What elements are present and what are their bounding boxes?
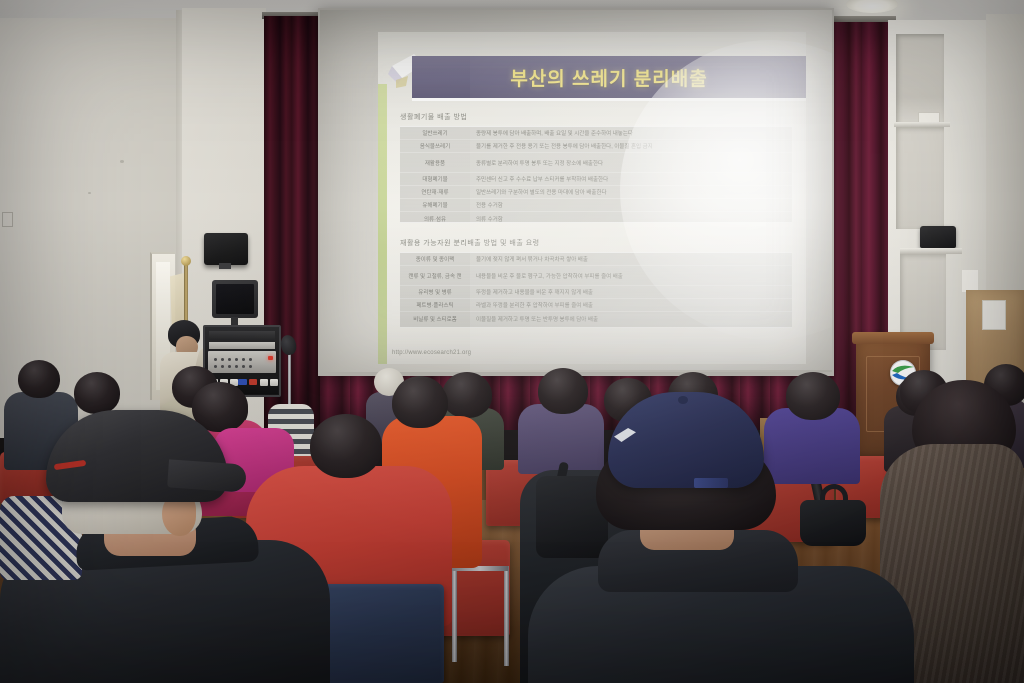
microphone-stand[interactable] bbox=[288, 350, 291, 412]
audience-member-head bbox=[18, 360, 60, 398]
table-row: 유해폐기물 전용 수거함 bbox=[400, 199, 792, 212]
mixer-power-led-icon bbox=[268, 356, 273, 360]
table-cell-label: 캔류 및 고철류, 금속 캔 bbox=[400, 272, 470, 280]
cap-brim bbox=[167, 459, 247, 492]
table-row: 일반쓰레기 종량제 봉투에 담아 배출하며, 배출 요일 및 시간을 준수하여 … bbox=[400, 127, 792, 140]
handbag-on-seat-back bbox=[800, 500, 866, 546]
audience-member-head bbox=[786, 372, 840, 420]
table-row: 의류·섬유 의류 수거함 bbox=[400, 212, 792, 225]
table-cell-body: 이물질을 제거하고 투명 또는 반투명 봉투에 담아 배출 bbox=[470, 315, 792, 323]
rack-unit-player[interactable] bbox=[209, 342, 275, 349]
speaker-bracket bbox=[219, 263, 231, 269]
rack-button[interactable] bbox=[270, 379, 278, 386]
table-cell-body: 일반쓰레기와 구분하여 별도의 전용 마대에 담아 배출한다 bbox=[470, 188, 792, 196]
wall-speaker-left-icon bbox=[204, 233, 248, 265]
rack-unit-top[interactable] bbox=[209, 331, 275, 340]
table-cell-label: 비닐류 및 스티로폼 bbox=[400, 315, 470, 323]
slide-table-one: 일반쓰레기 종량제 봉투에 담아 배출하며, 배출 요일 및 시간을 준수하여 … bbox=[400, 126, 792, 223]
light-switch-plate[interactable] bbox=[2, 212, 13, 227]
projected-slide: 부산의 쓰레기 분리배출 생활폐기물 배출 방법 일반쓰레기 종량제 봉투에 담… bbox=[378, 32, 806, 364]
table-cell-body: 내용물을 비운 후 물로 헹구고, 가능한 압착하여 부피를 줄여 배출 bbox=[470, 272, 792, 280]
wall-niche-middle bbox=[896, 127, 944, 229]
lecture-hall-photo: 부산의 쓰레기 분리배출 생활폐기물 배출 방법 일반쓰레기 종량제 봉투에 담… bbox=[0, 0, 1024, 683]
table-row: 음식물쓰레기 물기를 제거한 후 전용 용기 또는 전용 봉투에 담아 배출한다… bbox=[400, 140, 792, 153]
audience-member-head bbox=[392, 378, 448, 428]
wall-niche-upper bbox=[896, 34, 944, 124]
table-row: 종이류 및 종이팩 물기에 젖지 않게 펴서 묶거나 차곡차곡 쌓아 배출 bbox=[400, 253, 792, 266]
audience-member-head bbox=[310, 414, 382, 478]
table-cell-body: 뚜껑을 제거하고 내용물을 비운 후 깨지지 않게 배출 bbox=[470, 288, 792, 296]
cap-button-icon bbox=[678, 396, 688, 404]
table-cell-body: 전용 수거함 bbox=[470, 201, 792, 209]
slide-accent-bar bbox=[378, 84, 387, 364]
monitor-screen bbox=[216, 284, 254, 314]
podium-top bbox=[852, 332, 934, 344]
table-row: 유리병 및 병류 뚜껑을 제거하고 내용물을 비운 후 깨지지 않게 배출 bbox=[400, 286, 792, 299]
flag-pole-finial-icon bbox=[181, 256, 191, 266]
wall-notice bbox=[962, 270, 978, 292]
slide-section-heading-two: 재활용 가능자원 분리배출 방법 및 배출 요령 bbox=[400, 238, 540, 248]
shelf-speaker-right-icon bbox=[920, 226, 956, 248]
cabinet-notice-sheet bbox=[982, 300, 1006, 330]
seat-leg bbox=[452, 566, 457, 662]
slide-title-band: 부산의 쓰레기 분리배출 bbox=[412, 56, 806, 98]
audience-member-head bbox=[74, 372, 120, 414]
slide-table-two: 종이류 및 종이팩 물기에 젖지 않게 펴서 묶거나 차곡차곡 쌓아 배출 캔류… bbox=[400, 252, 792, 328]
table-cell-body: 물기를 제거한 후 전용 용기 또는 전용 봉투에 담아 배출한다, 이물질 혼… bbox=[470, 142, 792, 150]
table-cell-label: 일반쓰레기 bbox=[400, 129, 470, 137]
table-cell-label: 종이류 및 종이팩 bbox=[400, 255, 470, 263]
slide-url-text: http://www.ecosearch21.org bbox=[392, 350, 471, 356]
rack-indicator-red-icon bbox=[249, 379, 257, 385]
seat-leg bbox=[504, 566, 509, 666]
table-row: 재활용품 종류별로 분리하여 투명 봉투 또는 지정 장소에 배출한다 bbox=[400, 153, 792, 173]
cap-adjuster-strap bbox=[694, 478, 728, 488]
table-row: 캔류 및 고철류, 금속 캔 내용물을 비운 후 물로 헹구고, 가능한 압착하… bbox=[400, 266, 792, 286]
table-row: 연탄재·재류 일반쓰레기와 구분하여 별도의 전용 마대에 담아 배출한다 bbox=[400, 186, 792, 199]
audience-member-head bbox=[538, 368, 588, 414]
table-cell-body: 주민센터 신고 후 수수료 납부 스티커를 부착하여 배출한다 bbox=[470, 175, 792, 183]
table-cell-body: 라벨과 뚜껑을 분리한 후 압착하여 부피를 줄여 배출 bbox=[470, 301, 792, 309]
table-row: 비닐류 및 스티로폼 이물질을 제거하고 투명 또는 반투명 봉투에 담아 배출 bbox=[400, 312, 792, 325]
table-cell-body: 의류 수거함 bbox=[470, 215, 792, 223]
table-cell-label: 의류·섬유 bbox=[400, 215, 470, 223]
wall-mark bbox=[120, 160, 124, 163]
table-row: 대형폐기물 주민센터 신고 후 수수료 납부 스티커를 부착하여 배출한다 bbox=[400, 173, 792, 186]
table-cell-label: 연탄재·재류 bbox=[400, 188, 470, 196]
table-cell-label: 페트병·플라스틱 bbox=[400, 301, 470, 309]
table-cell-body: 종류별로 분리하여 투명 봉투 또는 지정 장소에 배출한다 bbox=[470, 159, 792, 167]
table-cell-label: 음식물쓰레기 bbox=[400, 142, 470, 150]
rack-indicator-blue-icon bbox=[238, 379, 247, 385]
table-cell-body: 물기에 젖지 않게 펴서 묶거나 차곡차곡 쌓아 배출 bbox=[470, 255, 792, 263]
audio-mixer-panel[interactable] bbox=[208, 351, 276, 373]
projection-screen: 부산의 쓰레기 분리배출 생활폐기물 배출 방법 일반쓰레기 종량제 봉투에 담… bbox=[320, 10, 832, 372]
table-cell-label: 유해폐기물 bbox=[400, 201, 470, 209]
slide-section-heading-one: 생활폐기물 배출 방법 bbox=[400, 112, 467, 122]
table-cell-label: 재활용품 bbox=[400, 159, 470, 167]
table-cell-label: 대형폐기물 bbox=[400, 175, 470, 183]
wall-mark bbox=[88, 192, 91, 194]
audience-member-head bbox=[442, 372, 492, 418]
rack-button[interactable] bbox=[260, 379, 268, 386]
slide-title-underline bbox=[412, 98, 806, 101]
table-row: 페트병·플라스틱 라벨과 뚜껑을 분리한 후 압착하여 부피를 줄여 배출 bbox=[400, 299, 792, 312]
table-cell-label: 유리병 및 병류 bbox=[400, 288, 470, 296]
auditorium-seat-navy[interactable] bbox=[318, 584, 444, 683]
table-cell-body: 종량제 봉투에 담아 배출하며, 배출 요일 및 시간을 준수하여 내놓는다 bbox=[470, 129, 792, 137]
slide-title: 부산의 쓰레기 분리배출 bbox=[510, 64, 707, 91]
